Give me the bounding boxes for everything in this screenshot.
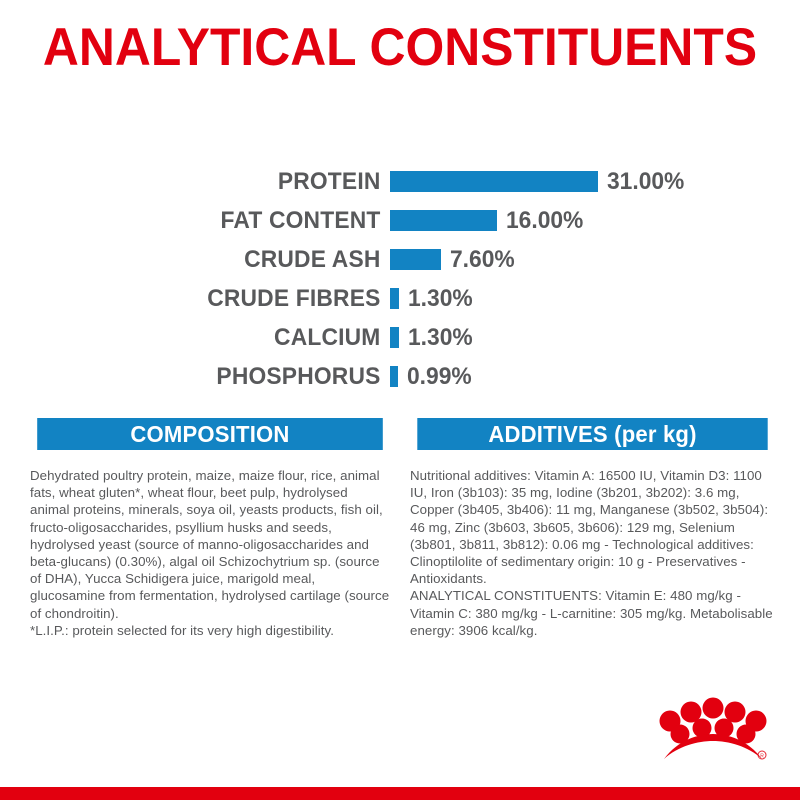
composition-panel: COMPOSITION Dehydrated poultry protein, … xyxy=(30,418,390,639)
bar-row: PROTEIN 31.00% xyxy=(0,162,800,201)
royal-canin-crown-logo: R xyxy=(658,696,768,762)
bar-label-crude-fibres: CRUDE FIBRES xyxy=(20,287,391,311)
nutrition-info-page: ANALYTICAL CONSTITUENTS PROTEIN 31.00% F… xyxy=(0,0,800,800)
analytical-constituents-bar-chart: PROTEIN 31.00% FAT CONTENT 16.00% CRUDE … xyxy=(0,162,800,396)
bar-label-protein: PROTEIN xyxy=(20,170,391,194)
bar-row: CRUDE FIBRES 1.30% xyxy=(0,279,800,318)
bar-track: 1.30% xyxy=(390,279,800,318)
bar-value-phosphorus: 0.99% xyxy=(407,365,472,389)
bar-value-crude-ash: 7.60% xyxy=(450,248,515,272)
info-panels: COMPOSITION Dehydrated poultry protein, … xyxy=(0,418,800,688)
bar-track: 1.30% xyxy=(390,318,800,357)
bar-fill-calcium xyxy=(390,327,399,348)
bar-fill-phosphorus xyxy=(390,366,398,387)
bar-fill-crude-fibres xyxy=(390,288,399,309)
bar-track: 7.60% xyxy=(390,240,800,279)
bar-value-crude-fibres: 1.30% xyxy=(408,287,473,311)
bar-row: FAT CONTENT 16.00% xyxy=(0,201,800,240)
additives-panel-body-secondary: ANALYTICAL CONSTITUENTS: Vitamin E: 480 … xyxy=(410,587,775,639)
bar-row: PHOSPHORUS 0.99% xyxy=(0,357,800,396)
additives-panel: ADDITIVES (per kg) Nutritional additives… xyxy=(410,418,775,639)
bar-label-crude-ash: CRUDE ASH xyxy=(20,248,391,272)
svg-text:R: R xyxy=(760,753,764,759)
page-title: ANALYTICAL CONSTITUENTS xyxy=(24,20,776,76)
bar-label-phosphorus: PHOSPHORUS xyxy=(20,365,391,389)
bar-track: 16.00% xyxy=(390,201,800,240)
composition-panel-body: Dehydrated poultry protein, maize, maize… xyxy=(30,467,390,622)
additives-panel-header: ADDITIVES (per kg) xyxy=(417,418,767,450)
bar-fill-crude-ash xyxy=(390,249,441,270)
bar-row: CALCIUM 1.30% xyxy=(0,318,800,357)
bar-value-fat-content: 16.00% xyxy=(506,209,583,233)
bar-track: 31.00% xyxy=(390,162,800,201)
bar-label-fat-content: FAT CONTENT xyxy=(20,209,391,233)
bar-fill-protein xyxy=(390,171,598,192)
composition-panel-header: COMPOSITION xyxy=(37,418,383,450)
bottom-red-strip xyxy=(0,787,800,800)
bar-row: CRUDE ASH 7.60% xyxy=(0,240,800,279)
bar-label-calcium: CALCIUM xyxy=(20,326,391,350)
bar-track: 0.99% xyxy=(390,357,800,396)
bar-fill-fat-content xyxy=(390,210,497,231)
composition-panel-footnote: *L.I.P.: protein selected for its very h… xyxy=(30,622,390,639)
bar-value-protein: 31.00% xyxy=(607,170,684,194)
bar-value-calcium: 1.30% xyxy=(408,326,473,350)
additives-panel-body: Nutritional additives: Vitamin A: 16500 … xyxy=(410,467,775,587)
